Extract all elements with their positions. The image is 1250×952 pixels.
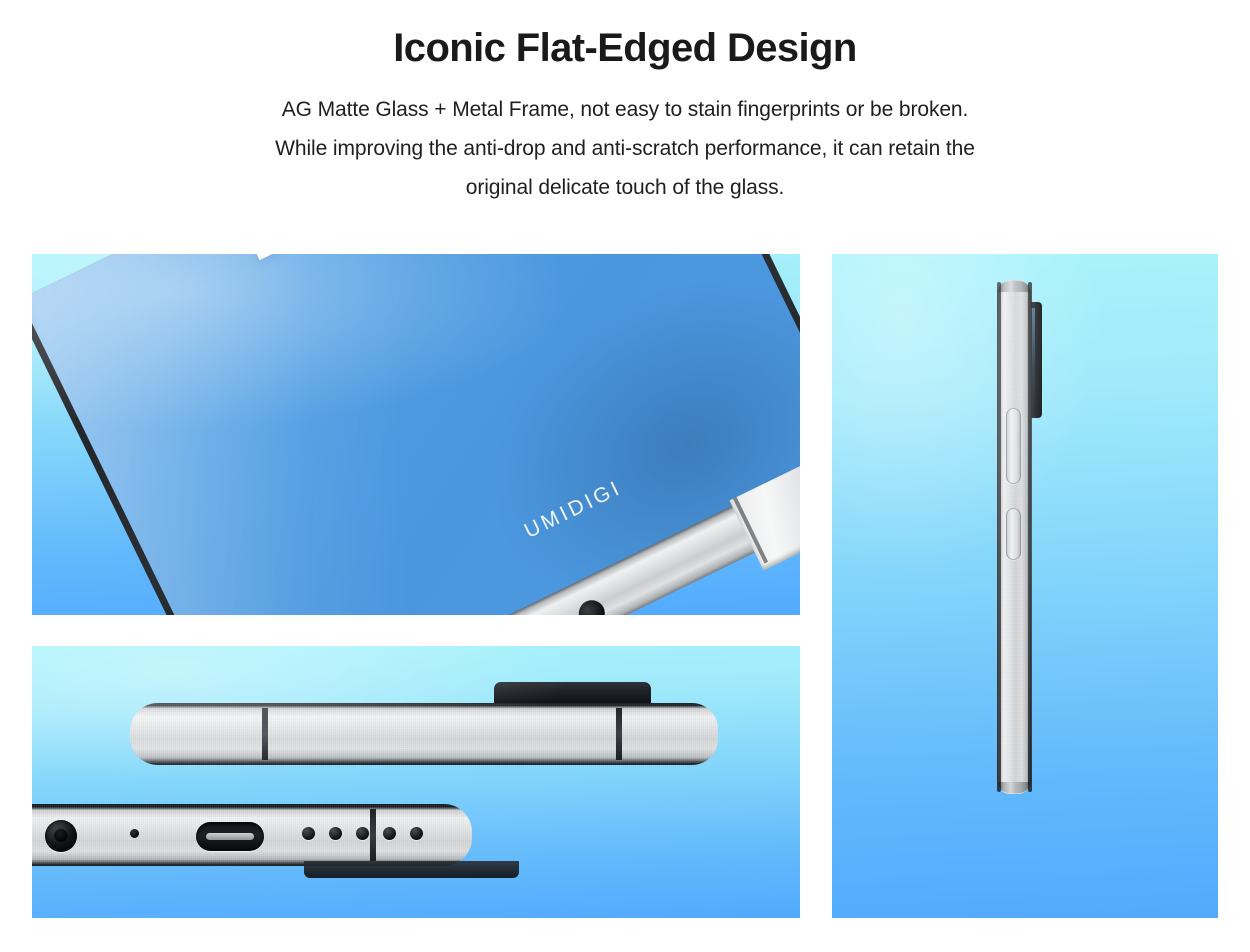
metal-grain-texture — [130, 703, 718, 765]
subtitle-line-1: AG Matte Glass + Metal Frame, not easy t… — [0, 90, 1250, 129]
volume-rocker-button — [1006, 408, 1021, 484]
front-glass-edge-line — [997, 282, 1001, 792]
camera-bump — [494, 682, 651, 704]
usb-c-port — [196, 822, 264, 851]
speaker-hole — [383, 827, 396, 840]
antenna-line — [262, 708, 268, 760]
subtitle-line-2: While improving the anti-drop and anti-s… — [0, 129, 1250, 168]
product-image-corner-closeup: BEYOND UMIDIGI — [32, 254, 800, 615]
glass-reflection — [32, 254, 556, 615]
antenna-line — [616, 708, 622, 760]
headphone-jack — [45, 820, 77, 852]
page-title: Iconic Flat-Edged Design — [0, 28, 1250, 68]
subtitle-line-3: original delicate touch of the glass. — [0, 168, 1250, 207]
phone-top-edge — [130, 703, 718, 765]
power-button — [1006, 508, 1021, 560]
product-image-side-profile — [832, 254, 1218, 918]
phone-corner-render: BEYOND UMIDIGI — [32, 254, 800, 615]
frame-top-cap — [998, 281, 1030, 292]
page-subtitle: AG Matte Glass + Metal Frame, not easy t… — [0, 90, 1250, 207]
phone-side-render — [997, 280, 1031, 794]
header-section: Iconic Flat-Edged Design AG Matte Glass … — [0, 0, 1250, 207]
rear-camera-module-shadow — [304, 861, 519, 878]
product-image-flat-edges — [32, 646, 800, 918]
speaker-hole — [329, 827, 342, 840]
product-feature-page: Iconic Flat-Edged Design AG Matte Glass … — [0, 0, 1250, 952]
antenna-line — [370, 809, 376, 861]
phone-bottom-edge — [32, 804, 472, 866]
microphone-hole — [130, 829, 139, 838]
top-edge-body — [130, 703, 718, 765]
speaker-hole — [410, 827, 423, 840]
speaker-hole — [356, 827, 369, 840]
speaker-hole — [302, 827, 315, 840]
back-glass-edge-line — [1028, 282, 1032, 792]
